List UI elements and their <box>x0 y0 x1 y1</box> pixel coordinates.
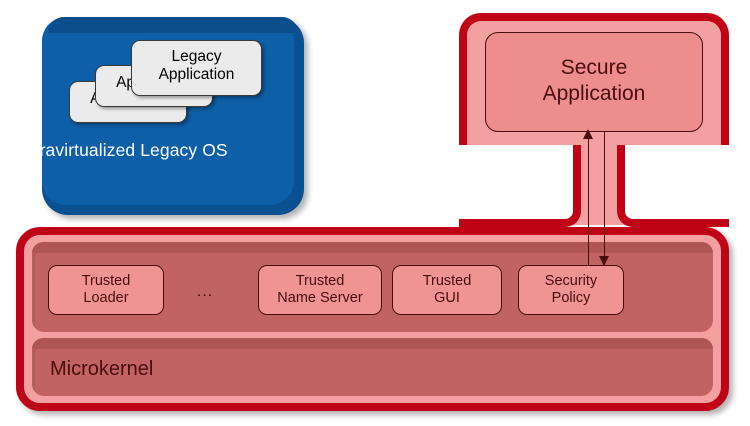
diagram-canvas: Legacy Application Legacy Application Le… <box>0 0 750 426</box>
service-box-security-policy[interactable]: Security Policy <box>518 265 624 315</box>
legacy-application-card-front[interactable]: Legacy Application <box>131 40 262 96</box>
secure-app-line1: Secure <box>486 55 702 81</box>
service-line2: Name Server <box>259 290 381 307</box>
legacy-app-line2: Application <box>132 66 261 84</box>
legacy-os-label: Paravirtualized Legacy OS <box>18 140 228 161</box>
services-ellipsis: … <box>196 281 215 301</box>
arrow-down-line <box>604 132 605 265</box>
secure-frame-notch-right <box>617 145 729 227</box>
service-box-trusted-gui[interactable]: Trusted GUI <box>392 265 502 315</box>
arrow-up-line <box>588 135 589 266</box>
arrow-up-icon <box>583 129 593 139</box>
secure-app-line2: Application <box>486 81 702 107</box>
service-line2: Loader <box>49 290 163 307</box>
service-box-trusted-name-server[interactable]: Trusted Name Server <box>258 265 382 315</box>
secure-frame-notch-left <box>459 145 581 227</box>
service-box-trusted-loader[interactable]: Trusted Loader <box>48 265 164 315</box>
service-line1: Trusted <box>49 273 163 290</box>
service-line1: Trusted <box>259 273 381 290</box>
arrow-down-icon <box>599 256 609 266</box>
microkernel-label: Microkernel <box>50 358 153 381</box>
service-line1: Security <box>519 273 623 290</box>
service-line2: Policy <box>519 290 623 307</box>
service-line2: GUI <box>393 290 501 307</box>
service-line1: Trusted <box>393 273 501 290</box>
secure-application-box[interactable]: Secure Application <box>485 32 703 132</box>
legacy-app-line1: Legacy <box>132 48 261 66</box>
